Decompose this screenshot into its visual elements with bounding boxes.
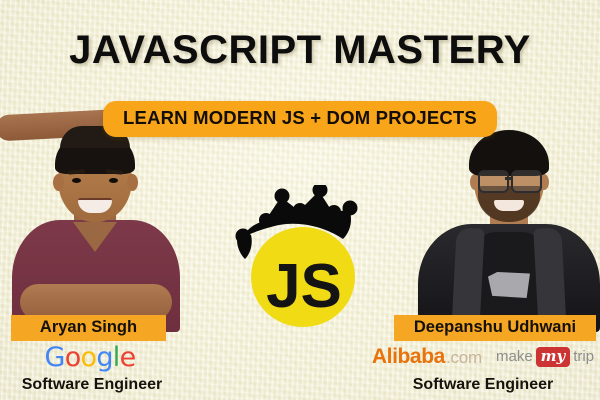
ear-left xyxy=(53,174,64,191)
company-logo-row-right: Alibaba .com make my trip xyxy=(366,346,600,367)
google-letter-e: e xyxy=(120,342,136,373)
alibaba-domain-suffix: .com xyxy=(446,349,482,366)
google-letter-g1: G xyxy=(44,342,64,373)
google-letter-o2: o xyxy=(81,342,97,373)
js-letters: JS xyxy=(266,252,342,321)
instructor-role-right: Software Engineer xyxy=(366,376,600,394)
google-letter-l: l xyxy=(113,342,120,373)
makemytrip-my-badge: my xyxy=(536,347,571,367)
eyeglass-bridge xyxy=(505,177,511,180)
instructor-name-band-right: Deepanshu Udhwani xyxy=(394,315,596,341)
eyeglass-lens-right xyxy=(511,170,542,193)
makemytrip-logo: make my trip xyxy=(496,347,594,367)
tshirt-graphic xyxy=(488,272,530,298)
instructor-name-band-left: Aryan Singh xyxy=(11,315,166,341)
google-letter-g2: g xyxy=(96,342,112,373)
instructor-name-left: Aryan Singh xyxy=(21,318,156,337)
javascript-crown-logo-icon: JS xyxy=(233,185,367,330)
instructor-role-left: Software Engineer xyxy=(0,376,184,394)
smile xyxy=(494,200,524,211)
eyeglass-lens-left xyxy=(478,170,509,193)
google-logo: Google xyxy=(44,344,135,371)
subtitle-text: LEARN MODERN JS + DOM PROJECTS xyxy=(123,109,477,128)
eye-right xyxy=(109,178,118,183)
company-logo-row-left: Google xyxy=(0,344,180,371)
makemytrip-make-text: make xyxy=(496,349,533,364)
google-letter-o1: o xyxy=(65,342,81,373)
video-thumbnail: JAVASCRIPT MASTERY LEARN MODERN JS + DOM… xyxy=(0,0,600,400)
eye-left xyxy=(72,178,81,183)
instructor-photo-deepanshu-udhwani xyxy=(410,112,600,328)
instructor-name-right: Deepanshu Udhwani xyxy=(404,318,586,337)
page-title: JAVASCRIPT MASTERY xyxy=(0,28,600,73)
ear-right xyxy=(127,174,138,191)
alibaba-wordmark: Alibaba xyxy=(372,346,445,367)
instructor-photo-aryan-singh xyxy=(0,112,192,328)
makemytrip-trip-text: trip xyxy=(573,349,594,364)
subtitle-banner: LEARN MODERN JS + DOM PROJECTS xyxy=(103,101,497,137)
alibaba-logo: Alibaba .com xyxy=(372,346,482,367)
